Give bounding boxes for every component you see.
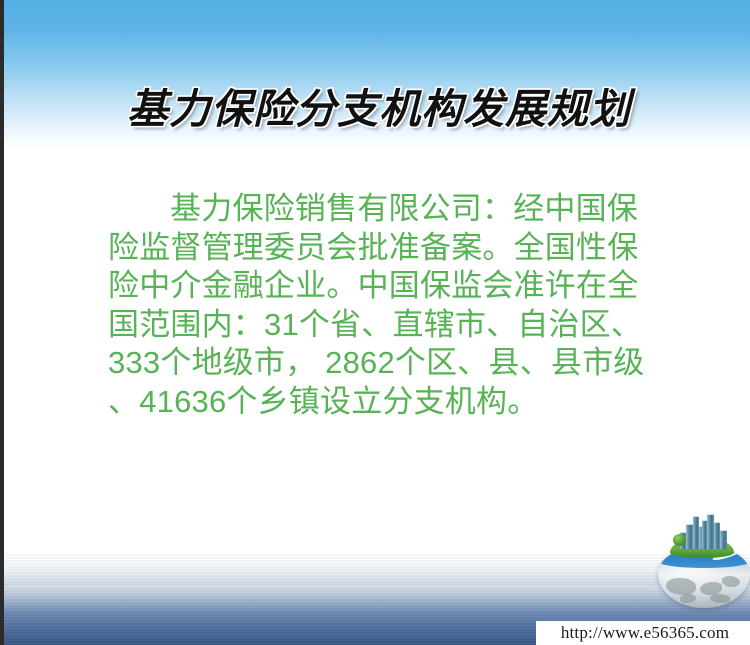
globe-landmass (722, 576, 740, 587)
tree-icon (673, 534, 686, 546)
skyscraper-icon (707, 514, 714, 549)
presentation-slide: 基力保险分支机构发展规划 基力保险销售有限公司：经中国保险监督管理委员会批准备案… (0, 0, 750, 645)
globe-landmass (710, 594, 730, 603)
slide-title-area: 基力保险分支机构发展规划 (4, 57, 750, 163)
globe-city-graphic (656, 512, 750, 610)
globe-landmass (680, 594, 696, 603)
skyscraper-icon (720, 530, 727, 549)
page-title: 基力保险分支机构发展规划 (127, 84, 631, 135)
slide-body-area: 基力保险销售有限公司：经中国保险监督管理委员会批准备案。全国性保险中介金融企业。… (108, 190, 664, 421)
globe-landmass (666, 578, 696, 595)
watermark-box: http://www.e56365.com (536, 621, 750, 645)
skyscraper-icon (686, 524, 693, 549)
body-paragraph: 基力保险销售有限公司：经中国保险监督管理委员会批准备案。全国性保险中介金融企业。… (108, 190, 664, 421)
watermark-url: http://www.e56365.com (561, 623, 729, 643)
